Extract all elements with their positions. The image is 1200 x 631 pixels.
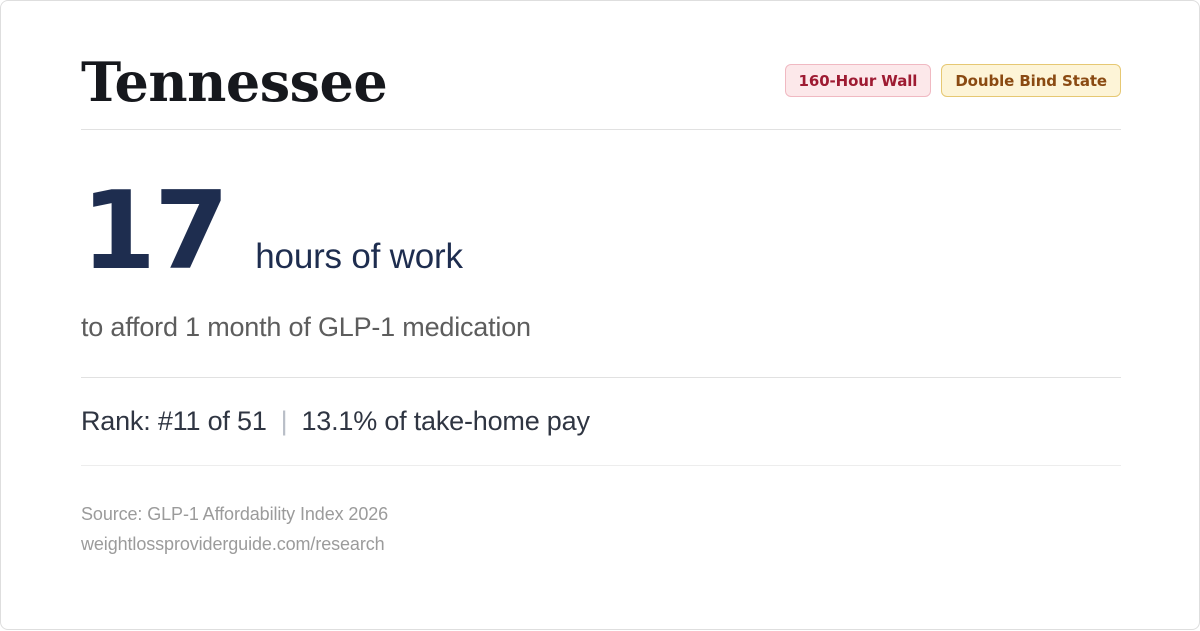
headline-subtext: to afford 1 month of GLP-1 medication	[81, 312, 1121, 343]
stats-row: Rank: #11 of 51 | 13.1% of take-home pay	[81, 378, 1121, 465]
badge-group: 160-Hour Wall Double Bind State	[785, 64, 1121, 97]
headline-block: 17 hours of work	[81, 130, 1121, 286]
card-header: Tennessee 160-Hour Wall Double Bind Stat…	[81, 1, 1121, 129]
rank-value: Rank: #11 of 51	[81, 406, 267, 437]
hours-unit-label: hours of work	[255, 237, 463, 277]
status-badge-double-bind[interactable]: Double Bind State	[941, 64, 1121, 97]
stats-separator: |	[281, 406, 288, 437]
stat-card: Tennessee 160-Hour Wall Double Bind Stat…	[0, 0, 1200, 630]
card-footer: Source: GLP-1 Affordability Index 2026 w…	[81, 466, 1121, 559]
source-line: Source: GLP-1 Affordability Index 2026	[81, 500, 1121, 530]
hours-value: 17	[81, 178, 227, 286]
takehome-share-value: 13.1% of take-home pay	[301, 406, 589, 437]
page-title: Tennessee	[81, 55, 387, 109]
status-badge-hour-wall[interactable]: 160-Hour Wall	[785, 64, 932, 97]
source-url[interactable]: weightlossproviderguide.com/research	[81, 530, 1121, 560]
card-inner: Tennessee 160-Hour Wall Double Bind Stat…	[81, 1, 1121, 631]
